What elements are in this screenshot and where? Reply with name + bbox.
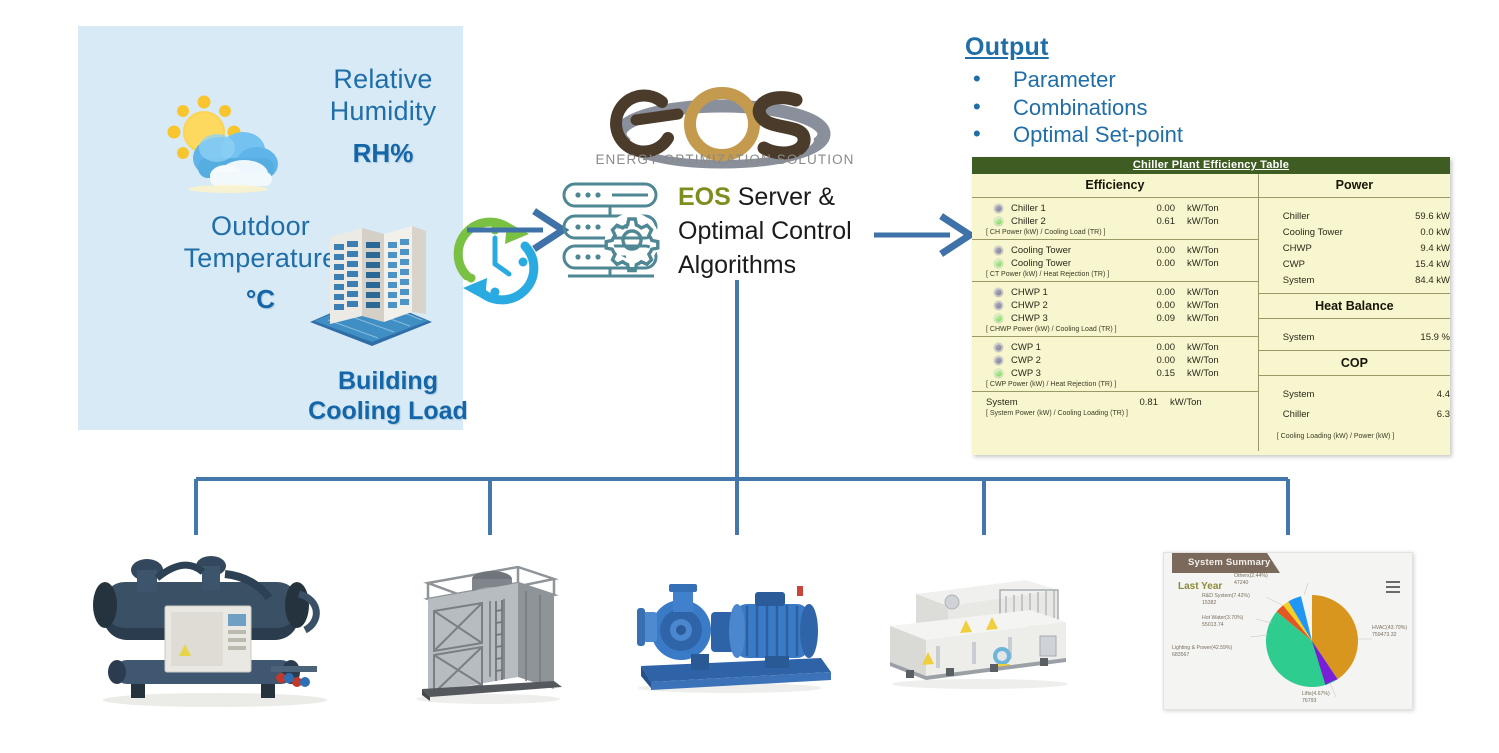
- row-label: Chiller 1: [1011, 203, 1131, 214]
- row-value: 59.6 kW: [1380, 211, 1450, 222]
- tree-connector: [0, 275, 1499, 535]
- server-gear-icon: [556, 176, 666, 281]
- relative-humidity-label: Relative Humidity: [283, 64, 483, 128]
- row-unit: kW/Ton: [1175, 258, 1219, 269]
- table-row: Chiller 1 0.00 kW/Ton: [972, 202, 1258, 215]
- chiller-equipment-image: [85, 548, 335, 708]
- diagram-canvas: Relative Humidity RH% Outdoor Temperatur…: [0, 0, 1499, 753]
- row-unit: kW/Ton: [1175, 203, 1219, 214]
- system-summary-dashboard[interactable]: System Summary Last Year: [1163, 552, 1413, 710]
- status-led-on-icon: [994, 259, 1003, 268]
- row-value: 0.00: [1131, 245, 1175, 256]
- output-item-parameter: Parameter: [965, 66, 1245, 94]
- table-row: Cooling Tower 0.0 kW: [1259, 224, 1450, 240]
- server-line1-rest: Server &: [731, 183, 835, 211]
- table-row: CWP 15.4 kW: [1259, 256, 1450, 272]
- row-value: 0.00: [1131, 258, 1175, 269]
- power-column-header: Power: [1259, 174, 1450, 198]
- output-item-optimal-setpoint: Optimal Set-point: [965, 121, 1245, 149]
- row-label: Chiller 2: [1011, 216, 1131, 227]
- row-unit: kW/Ton: [1175, 245, 1219, 256]
- row-value: 0.00: [1131, 203, 1175, 214]
- row-label: CHWP: [1283, 243, 1381, 254]
- row-label: Cooling Tower: [1011, 258, 1131, 269]
- table-row: Cooling Tower 0.00 kW/Ton: [972, 244, 1258, 257]
- arrow-input-to-server: [465, 205, 570, 255]
- table-row: Chiller 59.6 kW: [1259, 208, 1450, 224]
- output-item-combinations: Combinations: [965, 94, 1245, 122]
- pie-chart: Others(2.44%) 47240 R&D System(7.42%) 15…: [1164, 567, 1414, 711]
- pump-equipment-image: [625, 570, 835, 695]
- table-title: Chiller Plant Efficiency Table: [972, 157, 1450, 174]
- output-block: Output Parameter Combinations Optimal Se…: [965, 33, 1245, 149]
- sun-cloud-icon: [160, 86, 285, 201]
- status-led-on-icon: [994, 217, 1003, 226]
- row-label: Cooling Tower: [1011, 245, 1131, 256]
- eos-accent-word: EOS: [678, 183, 731, 211]
- row-label: Cooling Tower: [1283, 227, 1381, 238]
- status-led-off-icon: [994, 246, 1003, 255]
- pie-label-others: Others(2.44%) 47240: [1234, 573, 1268, 586]
- pie-label-hot-water: Hot Water(3.70%) 55013.74: [1202, 615, 1243, 628]
- eos-tagline: ENERGY OPTIMIZATION SOLUTION: [590, 152, 860, 167]
- row-value: 0.0 kW: [1380, 227, 1450, 238]
- table-row: Chiller 2 0.61 kW/Ton: [972, 215, 1258, 228]
- table-row: CHWP 9.4 kW: [1259, 240, 1450, 256]
- cooling-tower-equipment-image: [400, 555, 570, 705]
- output-title: Output: [965, 33, 1245, 62]
- row-value: 0.61: [1131, 216, 1175, 227]
- efficiency-group-chiller: Chiller 1 0.00 kW/Ton Chiller 2 0.61 kW/…: [972, 198, 1258, 240]
- pie-label-hvac: HVAC(43.79%) 759473.32: [1372, 625, 1407, 638]
- row-unit: kW/Ton: [1175, 216, 1219, 227]
- output-list: Parameter Combinations Optimal Set-point: [965, 66, 1245, 149]
- pie-label-lifts: Lifts(4.67%) 76793: [1302, 691, 1330, 704]
- pie-label-rd-system: R&D System(7.42%) 15382: [1202, 593, 1250, 606]
- group-note: [ CH Power (kW) / Cooling Load (TR) ]: [972, 228, 1258, 237]
- pie-label-lighting-power: Lighting & Power(42.59%) 683567: [1172, 645, 1232, 658]
- relative-humidity-unit: RH%: [283, 138, 483, 169]
- row-value: 15.4 kW: [1380, 259, 1450, 270]
- row-label: CWP: [1283, 259, 1381, 270]
- status-led-off-icon: [994, 204, 1003, 213]
- row-value: 9.4 kW: [1380, 243, 1450, 254]
- arrow-server-to-output: [872, 210, 977, 260]
- efficiency-column-header: Efficiency: [972, 174, 1258, 198]
- row-label: Chiller: [1283, 211, 1381, 222]
- ahu-equipment-image: [880, 570, 1080, 690]
- table-row: Cooling Tower 0.00 kW/Ton: [972, 257, 1258, 270]
